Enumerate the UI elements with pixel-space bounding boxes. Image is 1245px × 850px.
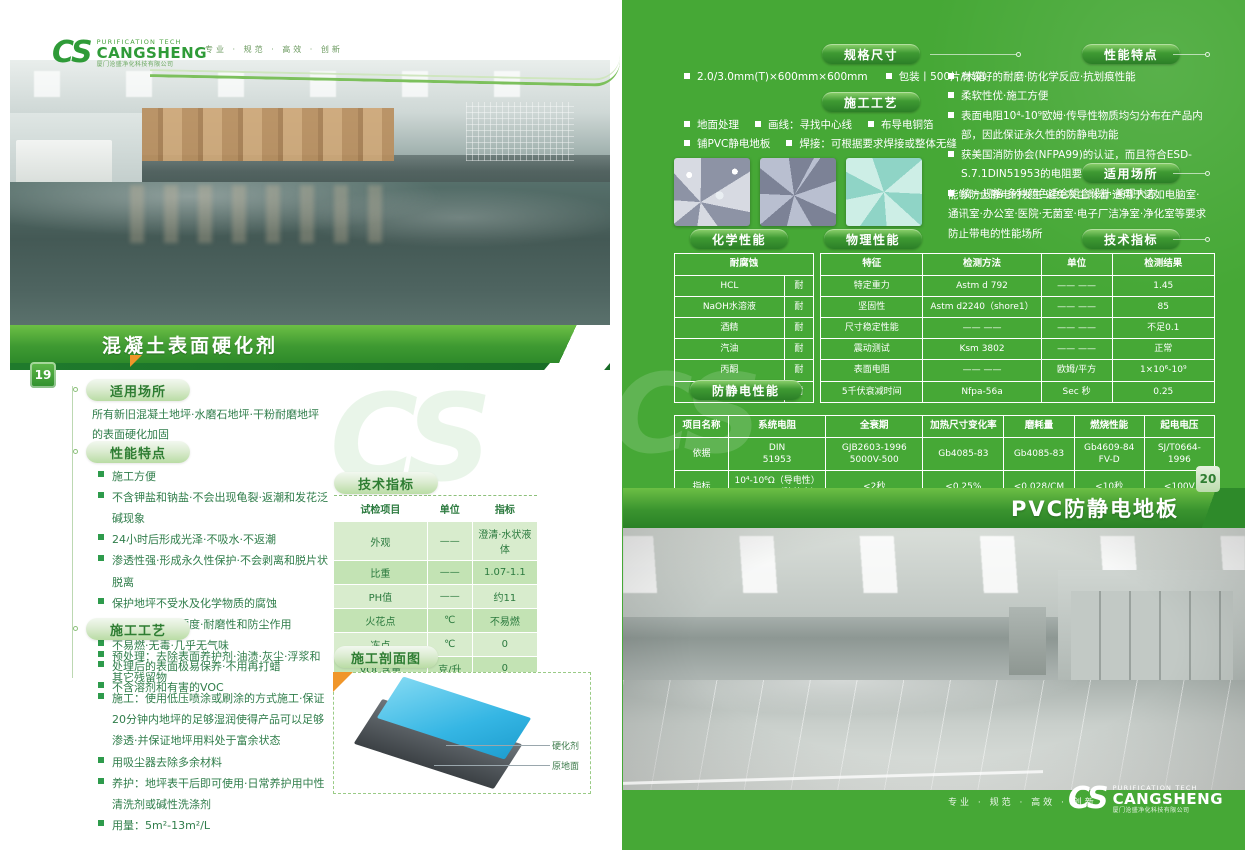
list-item: 24小时后形成光泽·不吸水·不返潮 (98, 529, 328, 550)
cs-monogram: CS (1068, 784, 1107, 814)
left-page: CS PURIFICATION TECH CANGSHENG 厦门沧盛净化科技有… (0, 0, 622, 850)
section-features-left: 性能特点 (86, 441, 190, 463)
photo-stacked-boxes (142, 108, 394, 161)
watermark-right: CS (622, 350, 942, 490)
table-row: 比重——1.07-1.1 (334, 561, 538, 585)
pill-dot-icon (73, 449, 78, 454)
brand-names: PURIFICATION TECH CANGSHENG 厦门沧盛净化科技有限公司 (1113, 785, 1223, 814)
list-item: 用量：5m²-13m²/L (98, 815, 330, 836)
brand-name-cn: 厦门沧盛净化科技有限公司 (97, 62, 207, 68)
list-item: 施工：使用低压喷涂或刷涂的方式施工·保证20分钟内地坪的足够湿润使得产品可以足够… (98, 688, 330, 751)
table-cell: 约11 (472, 585, 537, 609)
orange-corner-icon (130, 355, 142, 367)
table-row: 外观——澄清·水状液体 (334, 522, 538, 561)
list-item: 渗透性强·形成永久性保护·不会剥离和脱片状脱离 (98, 550, 328, 592)
section-heading-text: 性能特点 (110, 443, 166, 462)
lead-line-substrate (434, 765, 550, 766)
column-header: 试检项目 (334, 496, 428, 522)
background-decoration (865, 0, 1245, 320)
brand-name-en: CANGSHENG (1113, 792, 1223, 808)
table-cell: 外观 (334, 522, 428, 561)
table-cell: ℃ (427, 609, 472, 633)
list-item: 保护地坪不受水及化学物质的腐蚀 (98, 593, 328, 614)
list-item: 预处理：去除表面养护剂·油渍·灰尘·浮浆和其它残留物 (98, 646, 330, 688)
floor-slab-illustration (368, 691, 518, 775)
column-header: 指标 (472, 496, 537, 522)
footer-logo: CS PURIFICATION TECH CANGSHENG 厦门沧盛净化科技有… (1068, 784, 1223, 814)
photo-floor-reflection (130, 185, 400, 243)
title-underline (10, 363, 610, 370)
warehouse-floor-photo (10, 60, 610, 325)
section-applications-left: 适用场所 (86, 379, 190, 401)
cleanroom-photo (623, 528, 1245, 790)
table-row: 火花点℃不易燃 (334, 609, 538, 633)
table-cell: PH值 (334, 585, 428, 609)
pill-dot-icon (73, 387, 78, 392)
photo-vignette (623, 528, 1245, 790)
brochure-spread: CS PURIFICATION TECH CANGSHENG 厦门沧盛净化科技有… (0, 0, 1245, 850)
section-heading-text: 施工工艺 (110, 620, 166, 639)
section-process-left: 施工工艺 (86, 618, 190, 640)
list-item: 用吸尘器去除多余材料 (98, 752, 330, 773)
list-item: 施工方便 (98, 466, 328, 487)
cs-monogram: CS (52, 38, 91, 68)
orange-corner-icon (333, 672, 353, 692)
table-cell: 1.07-1.1 (472, 561, 537, 585)
list-item: 不含钾盐和钠盐·不会出现龟裂·返潮和发花泛碱现象 (98, 487, 328, 529)
left-title-bar: 混凝土表面硬化剂 (10, 325, 610, 363)
section-heading-text: 施工剖面图 (351, 648, 421, 667)
table-cell: 0 (472, 633, 537, 657)
lead-line-hardener (446, 745, 550, 746)
header-slogan: 专业 · 规范 · 高效 · 创新 (205, 44, 343, 55)
table-cell: —— (427, 585, 472, 609)
section-heading-text: 技术指标 (358, 474, 414, 493)
process-list-left: 预处理：去除表面养护剂·油渍·灰尘·浮浆和其它残留物施工：使用低压喷涂或刷涂的方… (98, 646, 330, 836)
applications-text: 所有新旧混凝土地坪·水磨石地坪·干粉耐磨地坪的表面硬化加固 (92, 405, 327, 446)
brand-name-cn: 厦门沧盛净化科技有限公司 (1113, 808, 1223, 814)
table-cell: 澄清·水状液体 (472, 522, 537, 561)
list-item: 养护：地坪表干后即可使用·日常养护用中性清洗剂或碱性洗涤剂 (98, 773, 330, 815)
table-cell: 火花点 (334, 609, 428, 633)
photo-mesh-shelving (466, 102, 574, 160)
table-cell: —— (427, 561, 472, 585)
table-cell: —— (427, 522, 472, 561)
label-substrate: 原地面 (552, 759, 579, 772)
header-logo: CS PURIFICATION TECH CANGSHENG 厦门沧盛净化科技有… (52, 38, 207, 68)
section-tech-index-left: 技术指标 (334, 472, 438, 494)
photo-wrapped-pallet (16, 140, 112, 188)
page-number-left: 19 (30, 362, 56, 388)
right-title-bar: PVC防静电地板 (623, 488, 1245, 528)
section-diagram-box: 硬化剂 原地面 (333, 672, 591, 794)
page-title: 混凝土表面硬化剂 (102, 331, 278, 358)
table-row: PH值——约11 (334, 585, 538, 609)
brand-name-en: CANGSHENG (97, 46, 207, 62)
table-cell: 比重 (334, 561, 428, 585)
brand-names: PURIFICATION TECH CANGSHENG 厦门沧盛净化科技有限公司 (97, 39, 207, 68)
table-cell: 不易燃 (472, 609, 537, 633)
section-diagram-left: 施工剖面图 (334, 646, 438, 668)
column-header: 单位 (427, 496, 472, 522)
left-rule (72, 386, 73, 678)
product-title: PVC防静电地板 (1011, 493, 1179, 523)
section-heading-text: 适用场所 (110, 381, 166, 400)
label-hardener: 硬化剂 (552, 739, 579, 752)
pill-dot-icon (73, 626, 78, 631)
